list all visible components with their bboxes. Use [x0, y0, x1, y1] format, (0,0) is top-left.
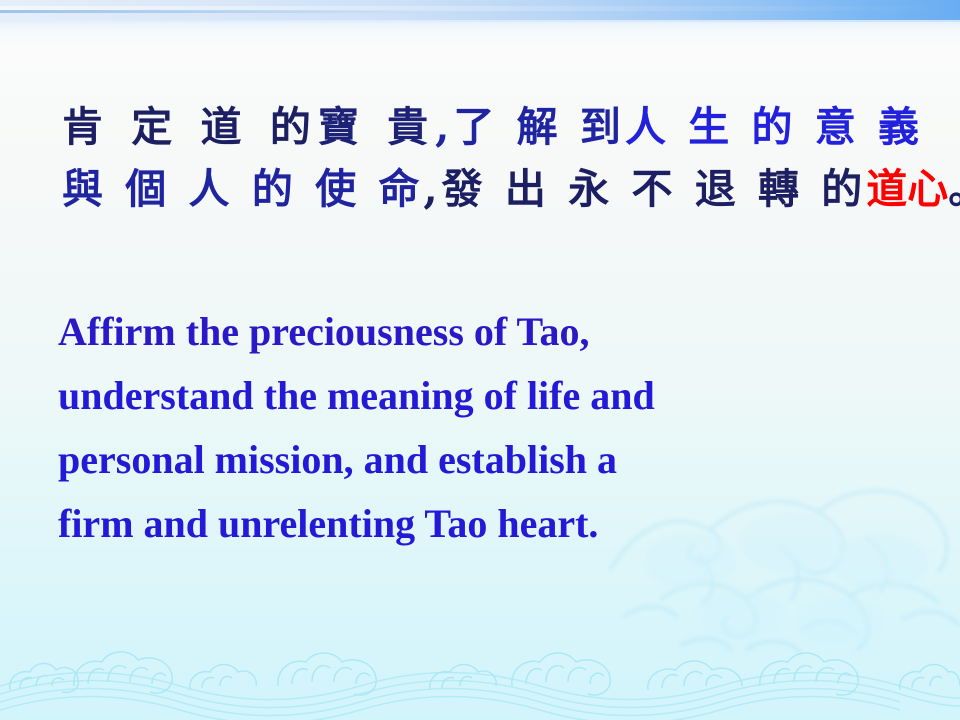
chinese-line2-segment-1: 與 個 人 的 使 命	[62, 165, 423, 213]
slide-canvas: 肯 定 道 的寶 貴,了 解 到人 生 的 意 義 與 個 人 的 使 命,發 …	[0, 0, 960, 720]
english-line-4: firm and unrelenting Tao heart.	[58, 492, 918, 556]
chinese-line-2: 與 個 人 的 使 命,發 出 永 不 退 轉 的道心。	[62, 158, 932, 220]
english-passage: Affirm the preciousness of Tao, understa…	[58, 300, 918, 556]
chinese-line1-segment-3: ,了 解 到	[435, 103, 625, 151]
english-line-3: personal mission, and establish a	[58, 428, 918, 492]
english-line-2: understand the meaning of life and	[58, 364, 918, 428]
english-line-1: Affirm the preciousness of Tao,	[58, 300, 918, 364]
chinese-line1-segment-4: 人 生 的 意 義	[625, 103, 923, 151]
chinese-line2-period: 。	[948, 165, 960, 213]
chinese-line-1: 肯 定 道 的寶 貴,了 解 到人 生 的 意 義	[62, 96, 932, 158]
chinese-line1-segment-2: 寶 貴	[318, 103, 435, 151]
chinese-passage: 肯 定 道 的寶 貴,了 解 到人 生 的 意 義 與 個 人 的 使 命,發 …	[62, 96, 932, 220]
slide-content: 肯 定 道 的寶 貴,了 解 到人 生 的 意 義 與 個 人 的 使 命,發 …	[0, 0, 960, 720]
chinese-line2-segment-2: ,發 出 永 不 退 轉 的	[423, 165, 866, 213]
chinese-highlight-daoxin: 道心	[866, 165, 948, 213]
chinese-line1-segment-1: 肯 定 道 的	[62, 103, 318, 151]
